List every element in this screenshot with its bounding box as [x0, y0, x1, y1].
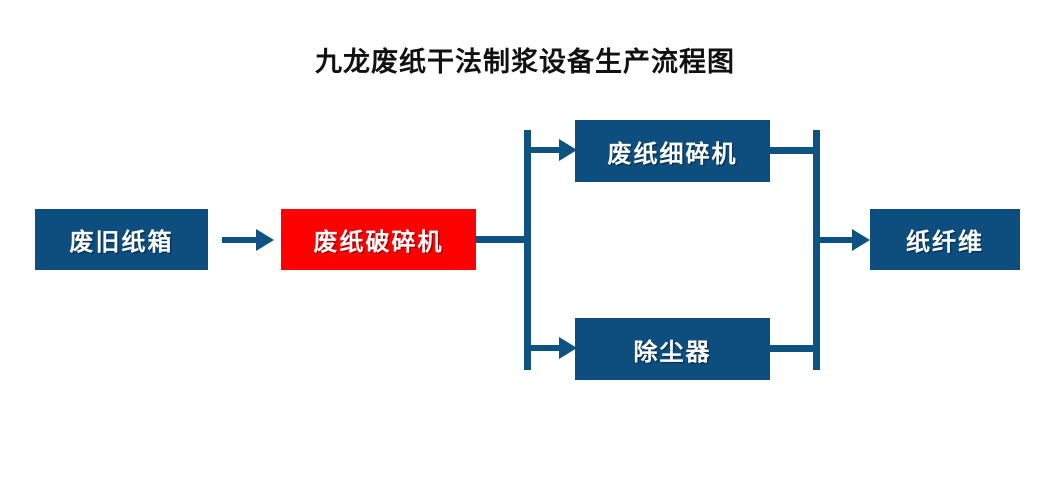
- node-fine-crusher-label: 废纸细碎机: [608, 134, 738, 169]
- arrow-split-to-dust-collector: [529, 335, 577, 363]
- arrow-carton-to-shredder: [222, 226, 274, 254]
- node-fine-crusher[interactable]: 废纸细碎机: [575, 120, 770, 182]
- node-waste-carton[interactable]: 废旧纸箱: [35, 209, 208, 270]
- node-paper-fiber[interactable]: 纸纤维: [870, 209, 1020, 270]
- node-paper-fiber-label: 纸纤维: [906, 222, 984, 257]
- flowchart-canvas: 九龙废纸干法制浆设备生产流程图 废旧纸箱 废纸破碎机 废纸细碎机 除尘器: [0, 0, 1050, 480]
- page-title: 九龙废纸干法制浆设备生产流程图: [0, 40, 1050, 79]
- node-dust-collector[interactable]: 除尘器: [575, 318, 770, 380]
- node-waste-carton-label: 废旧纸箱: [70, 222, 174, 257]
- node-dust-collector-label: 除尘器: [634, 332, 712, 367]
- connector-split-trunk: [524, 130, 531, 370]
- arrow-split-to-fine-crusher: [529, 137, 577, 165]
- connector-shredder-stub: [476, 236, 531, 243]
- node-paper-shredder[interactable]: 废纸破碎机: [281, 209, 476, 270]
- node-paper-shredder-label: 废纸破碎机: [314, 222, 444, 257]
- arrow-merge-to-paper-fiber: [818, 226, 870, 254]
